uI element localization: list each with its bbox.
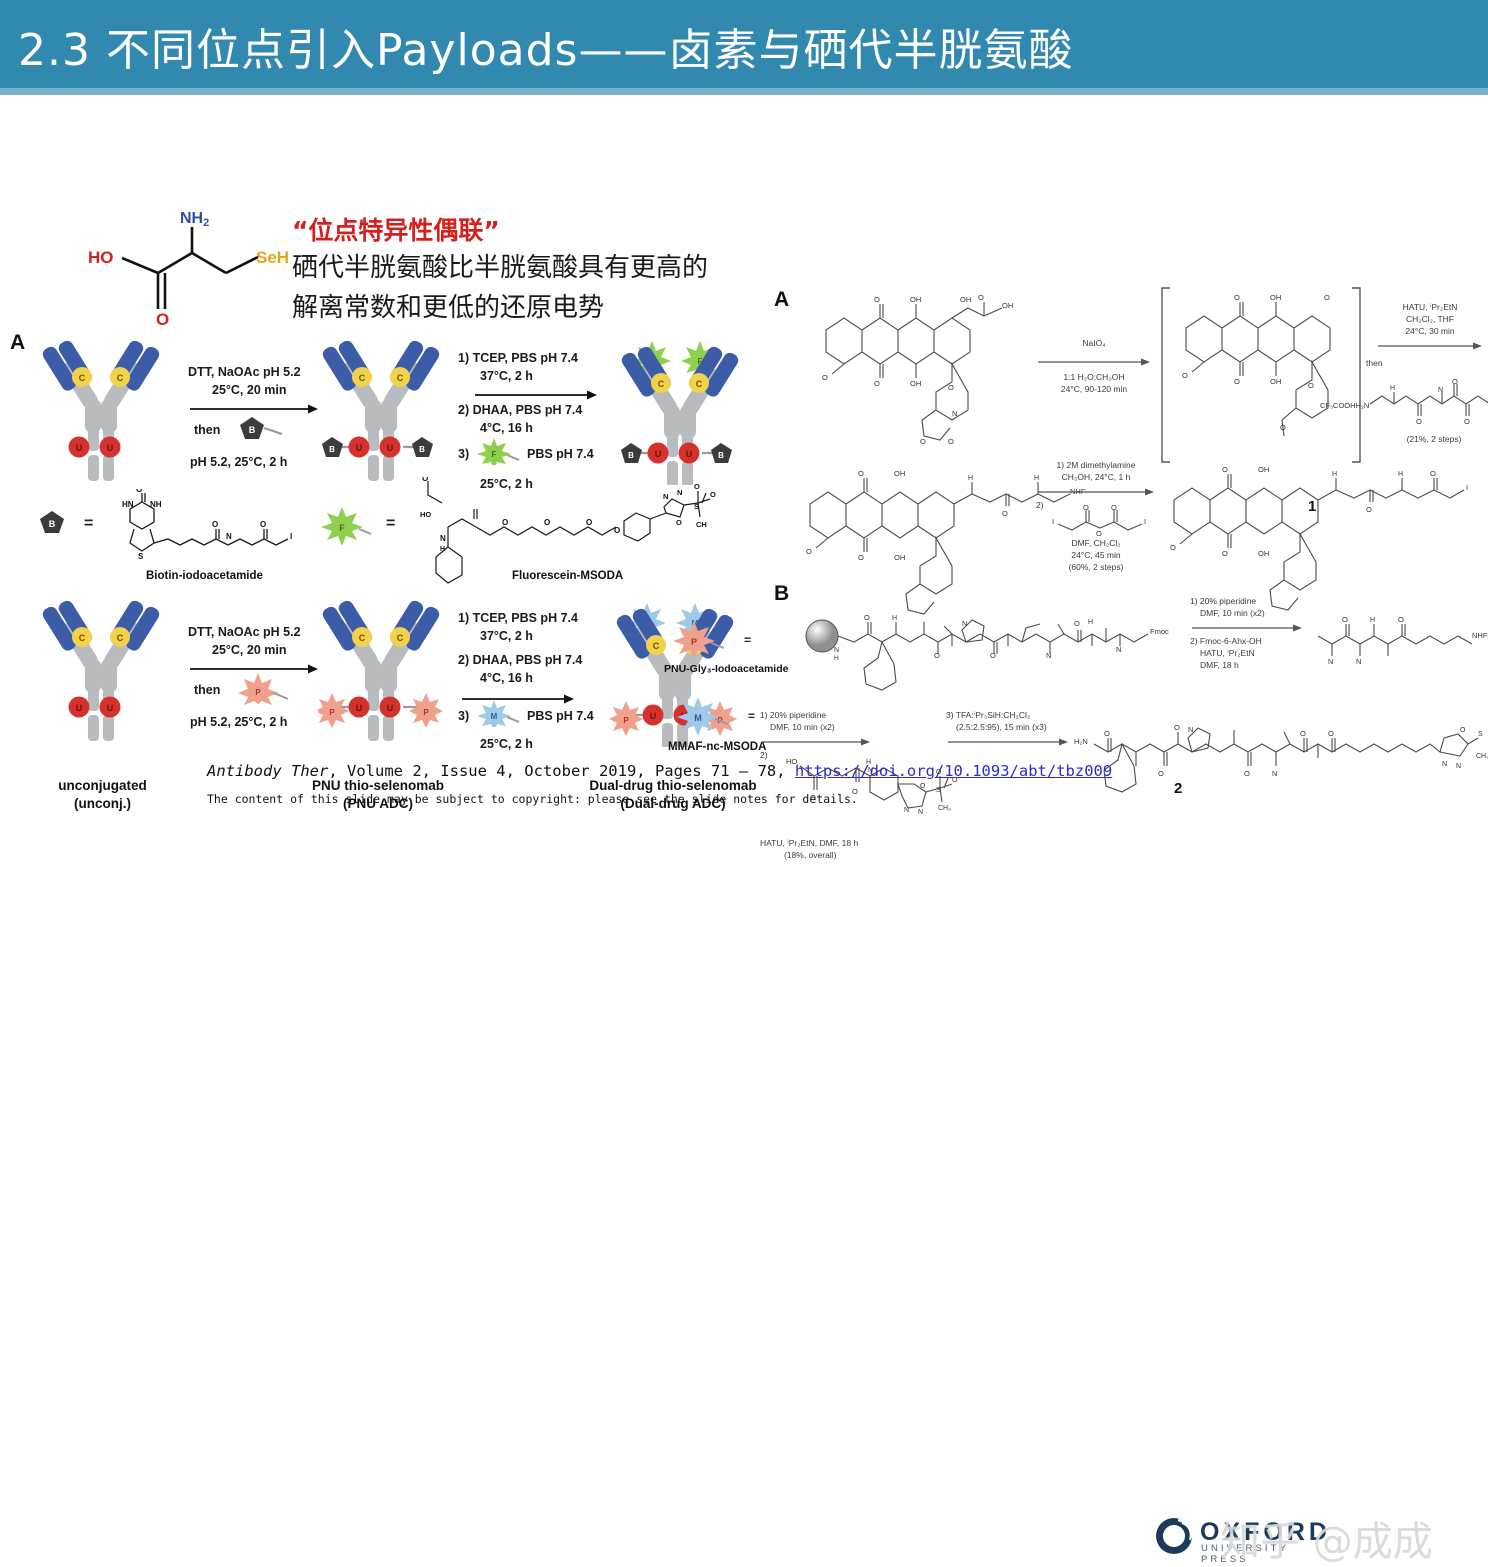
right-a-cond3-l1: 1) 2M dimethylamine <box>1028 460 1164 472</box>
svg-text:H: H <box>1088 619 1093 626</box>
svg-text:O: O <box>212 520 218 529</box>
svg-text:O: O <box>676 518 682 527</box>
rxn4-step1b: 37°C, 2 h <box>480 627 533 645</box>
svg-text:P: P <box>691 637 697 647</box>
right-a-cond1-l2: 1:1 H₂O:CH₃OH <box>1032 372 1156 384</box>
svg-text:H: H <box>892 615 897 622</box>
rxn2-step1a: 1) TCEP, PBS pH 7.4 <box>458 349 578 367</box>
rxn4-step3c: 25°C, 2 h <box>480 735 533 753</box>
rxn1-then: then <box>194 421 220 439</box>
antibody-pnu-adc: C C P P U U <box>318 595 444 743</box>
doi-link[interactable]: https://doi.org/10.1093/abt/tbz009 <box>795 762 1112 780</box>
svg-text:C: C <box>117 373 124 383</box>
fmoc-glycine-chain-structure: CF₃COOHH₂N H O N O O NHFmoc <box>1320 378 1488 428</box>
right-b-cond2-l4: HATU, ⁱPr₂EtN, DMF, 18 h <box>760 838 960 850</box>
svg-text:B: B <box>718 451 724 460</box>
svg-text:O: O <box>822 373 828 382</box>
right-b-cond1-l1: 1) 20% piperidine <box>1190 596 1320 608</box>
rxn2-step2a: 2) DHAA, PBS pH 7.4 <box>458 401 582 419</box>
svg-text:O: O <box>864 613 870 622</box>
rxn4-step1a: 1) TCEP, PBS pH 7.4 <box>458 609 578 627</box>
svg-text:O: O <box>1366 505 1372 514</box>
key-equals-mmaf: = <box>748 709 755 723</box>
svg-text:OH: OH <box>910 295 921 304</box>
svg-text:N: N <box>962 619 967 628</box>
right-b-cond1-l4: HATU, ⁱPr₂EtN <box>1200 648 1330 660</box>
svg-text:M: M <box>694 713 702 723</box>
svg-text:Fmoc: Fmoc <box>1150 627 1169 636</box>
fluorescein-star-icon-legend: F <box>320 505 372 545</box>
antibody-fluorescein-biotin: F F <box>605 327 755 485</box>
svg-text:C: C <box>397 373 404 383</box>
svg-text:O: O <box>1083 503 1089 512</box>
svg-text:O: O <box>806 547 812 556</box>
svg-text:O: O <box>502 518 508 527</box>
svg-text:OH: OH <box>1270 293 1281 302</box>
svg-text:N: N <box>1116 645 1121 654</box>
svg-text:C: C <box>653 641 660 651</box>
svg-text:O: O <box>1300 729 1306 738</box>
svg-text:M: M <box>491 712 498 721</box>
svg-text:NH: NH <box>150 500 162 509</box>
svg-text:O: O <box>1342 615 1348 624</box>
svg-text:O: O <box>1460 727 1466 734</box>
svg-text:O: O <box>544 518 550 527</box>
rxn3-conditions-line2: 25°C, 20 min <box>212 641 286 659</box>
rxn4-step3a: 3) <box>458 707 469 725</box>
right-a-arrow-3 <box>1038 486 1154 498</box>
mmaf-star-icon-1: M <box>476 699 520 727</box>
svg-text:N: N <box>952 409 957 418</box>
svg-text:U: U <box>76 703 83 713</box>
rxn3-then: then <box>194 681 220 699</box>
mmaf-star-icon-key: M <box>676 695 736 735</box>
right-a-cond3-l5: 24°C, 45 min <box>1030 550 1162 562</box>
svg-text:B: B <box>419 445 425 454</box>
right-b-arrow-1 <box>1192 622 1302 634</box>
rxn4-step2b: 4°C, 16 h <box>480 669 533 687</box>
svg-text:N: N <box>1188 725 1193 734</box>
svg-text:O: O <box>1430 469 1436 478</box>
svg-text:C: C <box>79 373 86 383</box>
rxn2-step1b: 37°C, 2 h <box>480 367 533 385</box>
svg-text:N: N <box>677 488 682 497</box>
svg-text:C: C <box>359 633 366 643</box>
svg-text:P: P <box>329 708 335 717</box>
svg-text:U: U <box>650 711 657 721</box>
rxn1-arrow <box>190 403 318 415</box>
citation-line: Antibody Ther, Volume 2, Issue 4, Octobe… <box>207 762 1112 780</box>
svg-text:U: U <box>107 443 114 453</box>
journal-name: Antibody Ther <box>207 762 328 780</box>
svg-text:P: P <box>623 716 629 725</box>
svg-text:O: O <box>948 383 954 392</box>
right-b-cond2-l1: 1) 20% piperidine <box>760 710 900 722</box>
svg-text:N: N <box>440 534 446 543</box>
svg-text:O: O <box>136 489 142 494</box>
key-equals-pnu: = <box>744 633 751 647</box>
svg-text:H: H <box>1332 471 1337 478</box>
mmaf-resin-peptide-structure: N H O H O N O N O H N Fmoc <box>804 590 1194 700</box>
rxn1-conditions-line3: pH 5.2, 25°C, 2 h <box>190 453 287 471</box>
svg-text:OH: OH <box>960 295 971 304</box>
rxn1-conditions-line2: 25°C, 20 min <box>212 381 286 399</box>
right-a-cond3-l4: DMF, CH₂Cl₂ <box>1030 538 1162 550</box>
rxn3-conditions-line1: DTT, NaOAc pH 5.2 <box>188 623 301 641</box>
antibody-unconjugated-bottom: C C U U <box>38 595 164 743</box>
svg-text:B: B <box>628 451 634 460</box>
compound-1-number: 1 <box>1308 498 1316 515</box>
oup-swirl-icon <box>1152 1514 1196 1558</box>
right-a-cond2-l3: 24°C, 30 min <box>1372 326 1488 338</box>
right-a-cond2-l2: CH₂Cl₂, THF <box>1372 314 1488 326</box>
callout-line-2: 解离常数和更低的还原电势 <box>292 291 762 325</box>
right-b-arrow-3 <box>948 736 1068 748</box>
svg-text:U: U <box>686 449 693 459</box>
svg-text:P: P <box>255 688 261 697</box>
svg-text:C: C <box>359 373 366 383</box>
svg-text:OH: OH <box>1002 301 1013 310</box>
right-a-cond3-l2: CH₃OH, 24°C, 1 h <box>1028 472 1164 484</box>
svg-text:N: N <box>663 492 668 501</box>
svg-text:O: O <box>1182 371 1188 380</box>
svg-text:O: O <box>694 482 700 491</box>
svg-text:N: N <box>1046 651 1051 660</box>
svg-text:O: O <box>1452 378 1458 386</box>
svg-text:O: O <box>990 651 996 660</box>
panel-letter-b-right: B <box>774 582 789 606</box>
biotin-iodoacetamide-structure: O HN NH S O N O I <box>108 489 308 561</box>
svg-text:O: O <box>1111 503 1117 512</box>
svg-text:HN: HN <box>122 500 134 509</box>
citation-details: , Volume 2, Issue 4, October 2019, Pages… <box>328 762 795 780</box>
svg-text:C: C <box>79 633 86 643</box>
right-a-arrow-1 <box>1038 356 1150 368</box>
svg-text:O: O <box>1222 465 1228 474</box>
svg-text:O: O <box>1104 729 1110 738</box>
svg-text:F: F <box>339 523 345 533</box>
pnu-star-icon-key: P <box>672 619 732 659</box>
svg-text:OH: OH <box>894 469 905 478</box>
rxn4-step3b: PBS pH 7.4 <box>527 707 594 725</box>
svg-text:O: O <box>1398 615 1404 624</box>
svg-text:O: O <box>1002 509 1008 518</box>
right-b-cond1-l3: 2) Fmoc-6-Ahx-OH <box>1190 636 1330 648</box>
panel-letter-a-right: A <box>774 288 789 312</box>
rxn2-step2b: 4°C, 16 h <box>480 419 533 437</box>
fluorescein-star-icon-1: F <box>476 437 520 465</box>
svg-text:I: I <box>1466 483 1468 492</box>
svg-text:N: N <box>1328 657 1333 666</box>
svg-text:H₂N: H₂N <box>1074 737 1088 746</box>
rxn4-step2a: 2) DHAA, PBS pH 7.4 <box>458 651 582 669</box>
svg-text:O: O <box>710 490 716 499</box>
callout-line-1: 硒代半胱氨酸比半胱氨酸具有更高的 <box>292 251 762 285</box>
svg-text:F: F <box>492 450 497 459</box>
svg-text:O: O <box>1280 423 1286 432</box>
svg-text:NHFmoc: NHFmoc <box>1472 631 1488 640</box>
svg-text:O: O <box>1464 417 1470 426</box>
rxn2-step3b: PBS pH 7.4 <box>527 445 594 463</box>
svg-text:U: U <box>356 443 363 453</box>
right-a-cond2-l1: HATU, ⁱPr₂EtN <box>1372 302 1488 314</box>
label-o: O <box>156 310 169 325</box>
svg-text:H: H <box>1398 471 1403 478</box>
svg-text:H: H <box>1370 617 1375 624</box>
svg-text:I: I <box>1144 517 1146 526</box>
svg-text:U: U <box>356 703 363 713</box>
panel-letter-a-left: A <box>10 331 25 355</box>
rxn2-step3a: 3) <box>458 445 469 463</box>
svg-text:N: N <box>1356 657 1361 666</box>
svg-text:O: O <box>1234 293 1240 302</box>
svg-text:HO: HO <box>420 510 431 519</box>
svg-text:B: B <box>329 445 335 454</box>
svg-text:U: U <box>76 443 83 453</box>
diiodo-anhydride-structure: I O O O I <box>1050 502 1158 536</box>
svg-text:N: N <box>226 532 232 541</box>
svg-text:O: O <box>422 477 428 483</box>
svg-text:C: C <box>658 379 665 389</box>
svg-text:O: O <box>948 437 954 446</box>
svg-text:O: O <box>858 553 864 562</box>
label-nh2: NH2 <box>180 210 209 229</box>
slide-body: HO O NH2 SeH “位点特异性偶联” 硒代半胱氨酸比半胱氨酸具有更高的 … <box>0 95 1488 837</box>
svg-text:O: O <box>978 293 984 302</box>
svg-text:C: C <box>696 379 703 389</box>
b-product-nhfmoc-structure: O H O N N NHFmoc <box>1316 592 1488 692</box>
svg-text:O: O <box>874 379 880 388</box>
svg-text:O: O <box>1308 381 1314 390</box>
svg-text:U: U <box>387 703 394 713</box>
svg-text:OH: OH <box>894 553 905 562</box>
label-seh: SeH <box>256 248 289 267</box>
rxn1-conditions-line1: DTT, NaOAc pH 5.2 <box>188 363 301 381</box>
svg-text:O: O <box>586 518 592 527</box>
svg-text:S: S <box>694 502 699 511</box>
right-b-cond2-l2: DMF, 10 min (x2) <box>770 722 910 734</box>
svg-text:OH: OH <box>1270 377 1281 386</box>
fluorescein-msoda-label: Fluorescein-MSODA <box>512 570 623 582</box>
right-b-cond1-l2: DMF, 10 min (x2) <box>1200 608 1330 620</box>
callout-quote: “位点特异性偶联” <box>292 215 762 246</box>
slide-footer: Antibody Ther, Volume 2, Issue 4, Octobe… <box>0 752 1488 837</box>
svg-text:B: B <box>49 519 56 529</box>
biotin-badge-icon-1: B <box>236 415 284 443</box>
svg-text:C: C <box>397 633 404 643</box>
svg-text:H: H <box>968 475 973 482</box>
page-title: 2.3 不同位点引入Payloads——卤素与硒代半胱氨酸 <box>18 14 1073 78</box>
antibody-unconjugated-top: C C U U <box>38 335 164 483</box>
svg-text:O: O <box>858 469 864 478</box>
antibody-biotin-conjugated: C C U U B B <box>318 335 444 483</box>
svg-text:O: O <box>1074 619 1080 628</box>
label-ho: HO <box>88 248 114 267</box>
svg-text:O: O <box>1324 293 1330 302</box>
svg-text:O: O <box>1096 529 1102 536</box>
pnu-star-icon-1: P <box>238 671 290 705</box>
header-underline <box>0 88 1488 95</box>
rxn2-arrow <box>475 389 597 401</box>
zhihu-watermark: 知乎 @成成 <box>1220 1509 1433 1567</box>
svg-text:P: P <box>423 708 429 717</box>
right-a-cond1-l3: 24°C, 90-120 min <box>1032 384 1156 396</box>
svg-text:O: O <box>920 437 926 446</box>
svg-text:OH: OH <box>910 379 921 388</box>
svg-text:O: O <box>1170 543 1176 552</box>
biotin-iodoacetamide-label: Biotin-iodoacetamide <box>146 570 263 582</box>
svg-text:H: H <box>834 655 839 662</box>
svg-text:O: O <box>1174 723 1180 732</box>
svg-text:O: O <box>1222 549 1228 558</box>
svg-text:U: U <box>655 449 662 459</box>
svg-text:O: O <box>260 520 266 529</box>
svg-text:B: B <box>249 425 256 435</box>
svg-text:S: S <box>1478 731 1483 738</box>
right-a-yield-2: (60%, 2 steps) <box>1030 562 1162 574</box>
svg-text:I: I <box>290 532 292 541</box>
legend-equals-1: = <box>84 515 93 533</box>
copyright-note: The content of this slide may be subject… <box>207 792 858 806</box>
svg-text:OH: OH <box>1258 465 1269 474</box>
svg-text:I: I <box>1052 517 1054 526</box>
bracketed-intermediate-structure: O OH O OH O O O O <box>1156 280 1366 470</box>
right-b-yield: (18%, overall) <box>784 850 944 862</box>
svg-text:H: H <box>1390 385 1395 392</box>
svg-text:O: O <box>1328 729 1334 738</box>
right-a-cond1-l1: NaIO₄ <box>1038 338 1150 350</box>
pnu-anthracycline-structure-1: O OH O OH OH O OH O O N O O <box>812 286 1032 456</box>
svg-text:S: S <box>138 552 144 561</box>
right-a-arrow-2 <box>1378 340 1482 352</box>
legend-equals-2: = <box>386 515 395 533</box>
right-a-yield-1: (21%, 2 steps) <box>1374 434 1488 446</box>
selenocysteine-structure: HO O NH2 SeH <box>70 205 300 325</box>
svg-text:O: O <box>614 526 620 535</box>
svg-text:O: O <box>1416 417 1422 426</box>
svg-text:O: O <box>934 651 940 660</box>
right-b-cond1-l5: DMF, 18 h <box>1200 660 1330 672</box>
svg-text:CH: CH <box>696 520 707 529</box>
svg-text:OH: OH <box>1258 549 1269 558</box>
svg-text:C: C <box>117 633 124 643</box>
right-a-cond2-then: then <box>1366 358 1426 370</box>
svg-text:O: O <box>1234 377 1240 386</box>
svg-text:H: H <box>440 546 445 553</box>
rxn3-conditions-line3: pH 5.2, 25°C, 2 h <box>190 713 287 731</box>
svg-text:N: N <box>834 647 839 654</box>
svg-text:U: U <box>387 443 394 453</box>
svg-text:CF₃COOHH₂N: CF₃COOHH₂N <box>1320 401 1369 410</box>
biotin-badge-icon-legend: B <box>36 509 76 539</box>
svg-text:O: O <box>874 295 880 304</box>
svg-text:U: U <box>107 703 114 713</box>
svg-text:N: N <box>1438 387 1443 394</box>
callout-text-block: “位点特异性偶联” 硒代半胱氨酸比半胱氨酸具有更高的 解离常数和更低的还原电势 <box>292 215 762 325</box>
